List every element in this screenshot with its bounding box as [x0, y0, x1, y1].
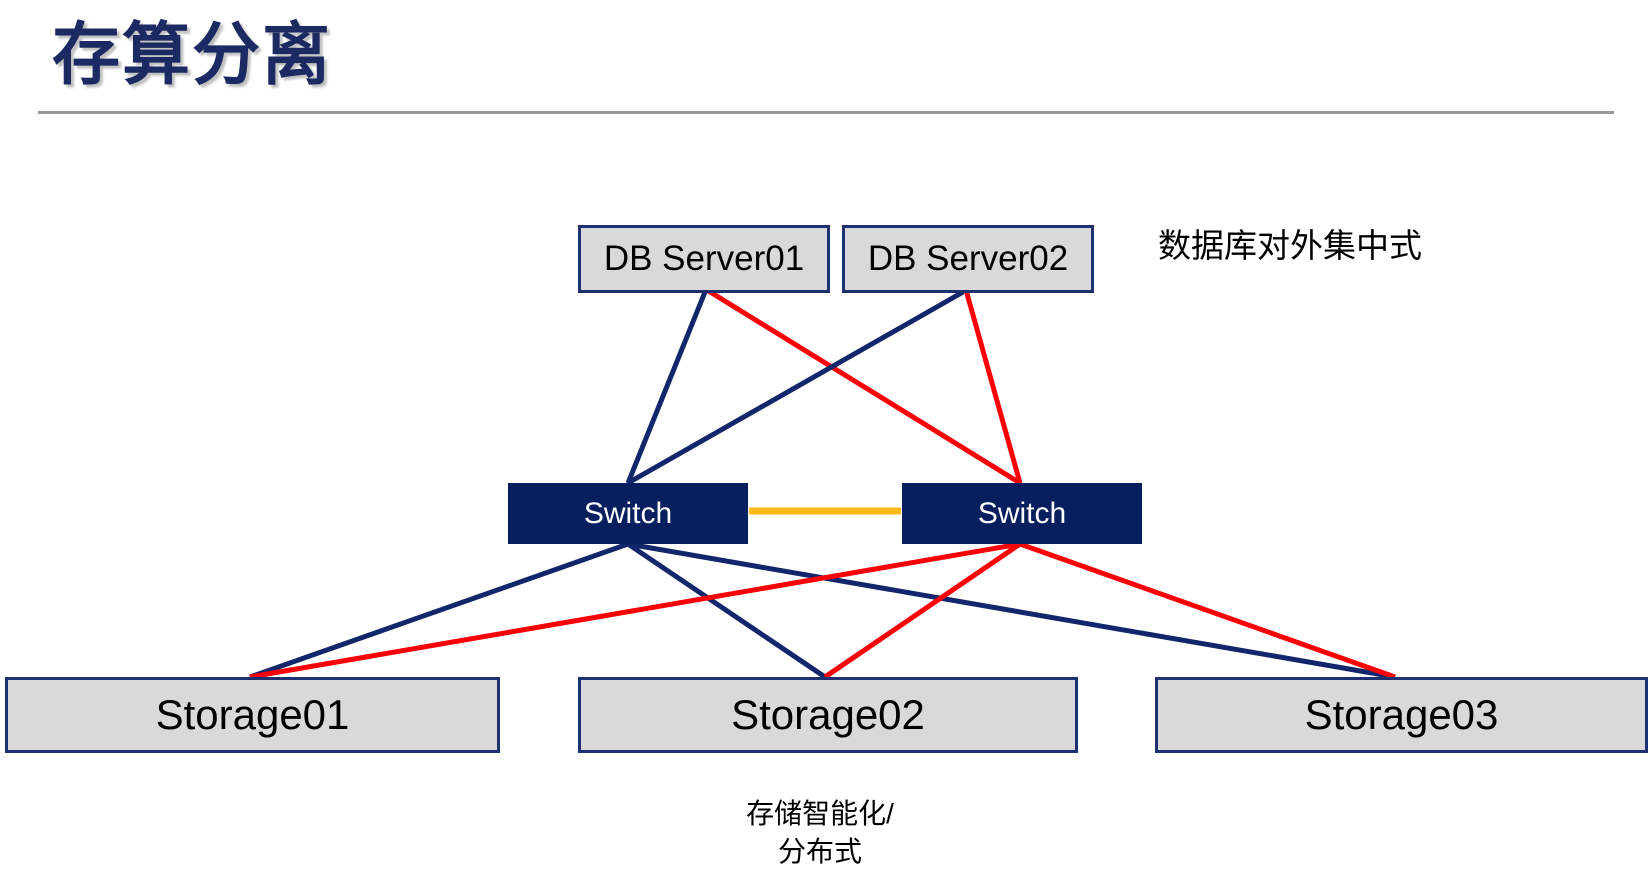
db02-to-switch-right: [966, 290, 1020, 483]
db-server-01-label: DB Server01: [604, 239, 804, 279]
switch-left-label: Switch: [584, 497, 672, 531]
storage-03-label: Storage03: [1305, 691, 1499, 739]
connection-links-layer: [0, 0, 1648, 886]
db01-to-switch-right: [707, 290, 1020, 483]
switch-right-to-storage02: [825, 544, 1020, 677]
storage-03[interactable]: Storage03: [1155, 677, 1648, 753]
switch-left-to-storage02: [628, 544, 825, 677]
switch-right-label: Switch: [978, 497, 1066, 531]
switch-right-to-storage03: [1020, 544, 1395, 677]
storage-01-label: Storage01: [156, 691, 350, 739]
annotation-db-note: 数据库对外集中式: [1158, 222, 1422, 270]
annotation-storage-note: 存储智能化/ 分布式: [640, 795, 1000, 871]
switch-left-to-storage01: [250, 544, 628, 677]
switch-left[interactable]: Switch: [508, 483, 748, 544]
architecture-diagram: DB Server01DB Server02SwitchSwitchStorag…: [0, 0, 1648, 886]
switch-right-to-storage01: [250, 544, 1020, 677]
db-server-01[interactable]: DB Server01: [578, 225, 830, 293]
db-server-02[interactable]: DB Server02: [842, 225, 1094, 293]
switch-right[interactable]: Switch: [902, 483, 1142, 544]
storage-02-label: Storage02: [731, 691, 925, 739]
storage-02[interactable]: Storage02: [578, 677, 1078, 753]
db02-to-switch-left: [628, 292, 963, 483]
db01-to-switch-left: [628, 292, 705, 483]
switch-left-to-storage03: [628, 544, 1395, 677]
storage-01[interactable]: Storage01: [5, 677, 500, 753]
db-server-02-label: DB Server02: [868, 239, 1068, 279]
